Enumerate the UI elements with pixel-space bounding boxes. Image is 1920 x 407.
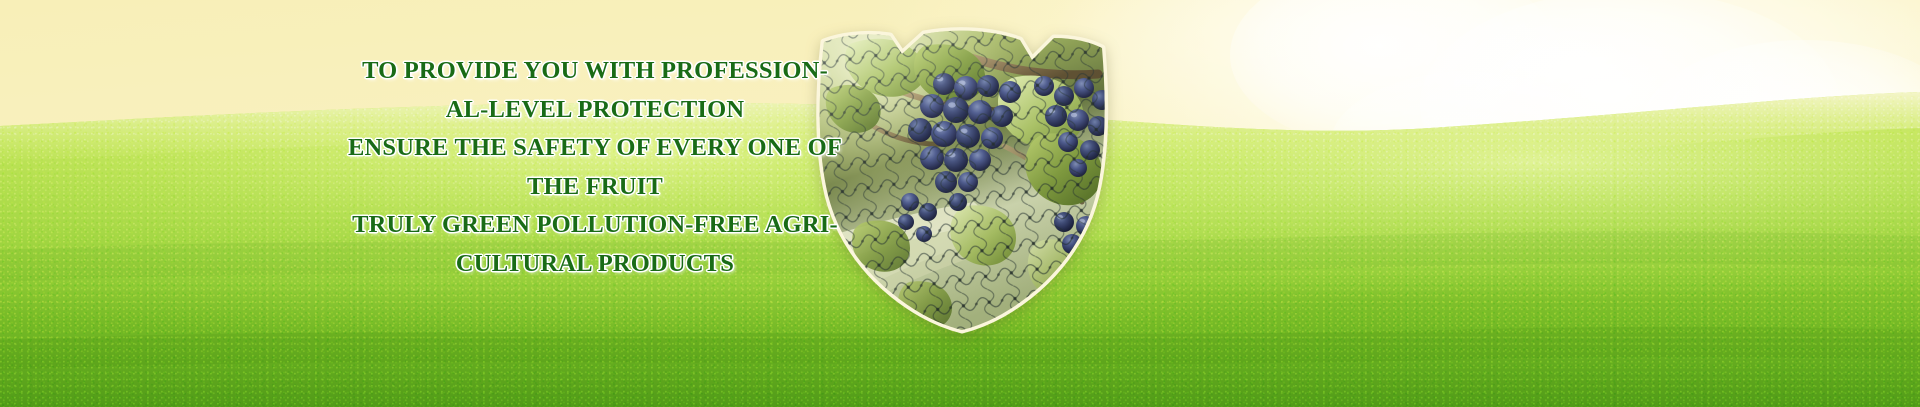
headline-line-5: TRULY GREEN POLLUTION-FREE AGRI- — [330, 206, 860, 245]
headline-block: TO PROVIDE YOU WITH PROFESSION- AL-LEVEL… — [330, 52, 860, 283]
headline-line-3: ENSURE THE SAFETY OF EVERY ONE OF — [330, 129, 860, 168]
headline-line-1: TO PROVIDE YOU WITH PROFESSION- — [330, 52, 860, 91]
hero-banner: TO PROVIDE YOU WITH PROFESSION- AL-LEVEL… — [0, 0, 1920, 407]
headline-line-2: AL-LEVEL PROTECTION — [330, 91, 860, 130]
headline-line-4: THE FRUIT — [330, 168, 860, 207]
headline-line-6: CULTURAL PRODUCTS — [330, 245, 860, 284]
